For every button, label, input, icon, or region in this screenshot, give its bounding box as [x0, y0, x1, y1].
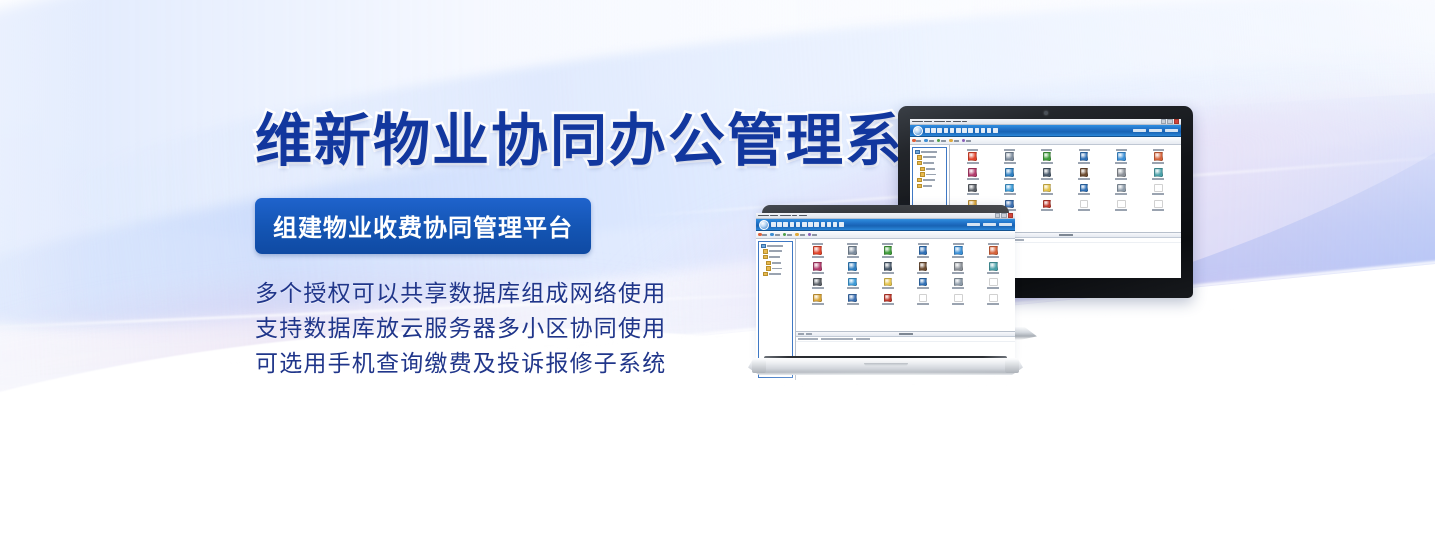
module-label-top: [918, 243, 929, 245]
module-icon-11-glyph: [954, 262, 963, 271]
menu-item[interactable]: [981, 128, 986, 133]
module-icon-7[interactable]: [954, 167, 991, 181]
module-icon-10[interactable]: [906, 261, 941, 275]
module-label: [812, 303, 824, 305]
toolbar-button[interactable]: [783, 233, 792, 237]
app-header-actions[interactable]: [967, 223, 1012, 226]
module-icon-15-glyph: [884, 278, 893, 287]
module-icon-3[interactable]: [1028, 148, 1065, 165]
module-label-top: [1041, 149, 1052, 151]
module-icon-5-glyph: [1117, 152, 1126, 161]
tree-item[interactable]: [761, 249, 791, 253]
module-label: [1152, 193, 1164, 195]
tree-item[interactable]: [761, 255, 791, 259]
module-icon-13[interactable]: [954, 182, 991, 196]
menu-item[interactable]: [777, 222, 782, 227]
menu-item[interactable]: [771, 222, 776, 227]
module-icon-24-glyph: [989, 294, 998, 303]
module-icon-2[interactable]: [835, 242, 870, 259]
module-icon-22-glyph: [919, 294, 928, 303]
tree-item[interactable]: [761, 244, 791, 248]
menu-item[interactable]: [790, 222, 795, 227]
module-icon-15[interactable]: [870, 276, 905, 290]
module-label: [882, 256, 894, 258]
module-label: [987, 287, 999, 289]
module-icon-15-glyph: [1043, 184, 1052, 193]
module-icon-10[interactable]: [1066, 167, 1103, 181]
module-label: [812, 287, 824, 289]
module-icon-24-glyph: [1154, 200, 1163, 209]
module-icon-18-glyph: [1154, 184, 1163, 193]
menu-item[interactable]: [975, 128, 980, 133]
module-label-top: [882, 243, 893, 245]
module-icon-2-glyph: [1005, 152, 1014, 161]
menu-item[interactable]: [808, 222, 813, 227]
app-title-text: [912, 121, 967, 123]
module-icon-17[interactable]: [941, 276, 976, 290]
toolbar-button[interactable]: [770, 233, 779, 237]
close-icon[interactable]: [1174, 119, 1179, 124]
module-icon-10-glyph: [1080, 168, 1089, 177]
module-icon-23[interactable]: [941, 292, 976, 306]
app-logo-icon: [913, 126, 923, 136]
tree-item[interactable]: [915, 184, 945, 188]
module-label-top: [967, 149, 978, 151]
header-action[interactable]: [967, 223, 980, 226]
module-label: [987, 303, 999, 305]
module-icon-13-glyph: [813, 278, 822, 287]
module-icon-4[interactable]: [1066, 148, 1103, 165]
device-mockup-group: [740, 100, 1210, 420]
menu-item[interactable]: [814, 222, 819, 227]
module-icon-1-glyph: [968, 152, 977, 161]
toolbar-button[interactable]: [758, 233, 767, 237]
module-icon-1[interactable]: [954, 148, 991, 165]
module-icon-4[interactable]: [906, 242, 941, 259]
module-label: [812, 272, 824, 274]
module-icon-4-glyph: [1080, 152, 1089, 161]
module-icon-23[interactable]: [1103, 198, 1140, 212]
module-label: [967, 162, 979, 164]
laptop-foot-right: [1005, 360, 1019, 373]
app-logo-icon: [759, 220, 769, 230]
module-icon-18-glyph: [989, 278, 998, 287]
module-label-top: [953, 243, 964, 245]
laptop-screen: [756, 213, 1015, 380]
module-icon-20-glyph: [848, 294, 857, 303]
toolbar-button[interactable]: [808, 233, 817, 237]
module-label: [882, 303, 894, 305]
module-label: [1115, 178, 1127, 180]
module-icon-3[interactable]: [870, 242, 905, 259]
module-icon-2[interactable]: [991, 148, 1028, 165]
webcam-icon: [1044, 111, 1048, 115]
module-label: [1041, 162, 1053, 164]
module-icon-9-glyph: [884, 262, 893, 271]
menu-item[interactable]: [839, 222, 844, 227]
app-title-text: [758, 215, 807, 217]
module-icon-24[interactable]: [976, 292, 1011, 306]
toolbar-button[interactable]: [924, 139, 933, 143]
module-label: [952, 287, 964, 289]
module-icon-3-glyph: [884, 246, 893, 255]
tree-item[interactable]: [761, 272, 791, 276]
module-label: [917, 287, 929, 289]
tree-item[interactable]: [915, 150, 945, 154]
module-icon-6[interactable]: [976, 242, 1011, 259]
module-icon-1[interactable]: [800, 242, 835, 259]
laptop-computer: [748, 205, 1023, 390]
menu-item[interactable]: [962, 128, 967, 133]
module-icon-8[interactable]: [835, 261, 870, 275]
app-menu-bar[interactable]: [771, 222, 844, 227]
minimize-button[interactable]: [995, 213, 1000, 218]
module-label-top: [1004, 149, 1015, 151]
minimize-button[interactable]: [1161, 119, 1166, 124]
header-action[interactable]: [999, 223, 1012, 226]
list-header-row: [796, 332, 1015, 337]
module-icon-21[interactable]: [870, 292, 905, 306]
menu-item[interactable]: [968, 128, 973, 133]
module-icon-22[interactable]: [906, 292, 941, 306]
module-label: [847, 287, 859, 289]
module-icon-8[interactable]: [991, 167, 1028, 181]
module-icon-13-glyph: [968, 184, 977, 193]
module-icon-1-glyph: [813, 246, 822, 255]
module-label: [1115, 209, 1127, 211]
laptop-reflection: [758, 375, 1013, 389]
tree-item[interactable]: [915, 178, 945, 182]
module-icon-9[interactable]: [1028, 167, 1065, 181]
app-toolbar[interactable]: [910, 137, 1181, 145]
module-icon-14[interactable]: [991, 182, 1028, 196]
menu-item[interactable]: [783, 222, 788, 227]
module-icon-5[interactable]: [1103, 148, 1140, 165]
module-icon-14-glyph: [848, 278, 857, 287]
module-label: [882, 287, 894, 289]
menu-item[interactable]: [987, 128, 992, 133]
trackpad-notch: [864, 363, 908, 366]
menu-item[interactable]: [956, 128, 961, 133]
module-label-top: [988, 243, 999, 245]
module-label: [1041, 193, 1053, 195]
maximize-button[interactable]: [1167, 119, 1172, 124]
module-icon-21[interactable]: [1028, 198, 1065, 212]
module-icon-16[interactable]: [906, 276, 941, 290]
module-icon-14-glyph: [1005, 184, 1014, 193]
module-icon-9-glyph: [1043, 168, 1052, 177]
module-label: [1115, 193, 1127, 195]
table-row[interactable]: [796, 337, 1015, 342]
module-icon-21-glyph: [1043, 200, 1052, 209]
tree-item[interactable]: [915, 161, 945, 165]
app-toolbar[interactable]: [756, 231, 1015, 239]
module-label: [1152, 162, 1164, 164]
menu-item[interactable]: [925, 128, 930, 133]
module-icon-16-glyph: [919, 278, 928, 287]
window-controls[interactable]: [995, 213, 1013, 218]
window-controls[interactable]: [1161, 119, 1179, 124]
module-icon-3-glyph: [1043, 152, 1052, 161]
module-label: [1152, 178, 1164, 180]
module-icon-16-glyph: [1080, 184, 1089, 193]
module-label: [1041, 209, 1053, 211]
tree-item[interactable]: [915, 167, 945, 171]
tree-item[interactable]: [761, 261, 791, 265]
module-label: [847, 256, 859, 258]
module-label-top: [847, 243, 858, 245]
module-icon-12[interactable]: [976, 261, 1011, 275]
module-label: [1004, 193, 1016, 195]
module-icon-18[interactable]: [1140, 182, 1177, 196]
module-label: [1078, 178, 1090, 180]
module-icon-23-glyph: [1117, 200, 1126, 209]
tree-item[interactable]: [761, 266, 791, 270]
module-icon-7[interactable]: [800, 261, 835, 275]
header-action[interactable]: [1133, 129, 1146, 132]
module-label: [987, 256, 999, 258]
toolbar-button[interactable]: [962, 139, 971, 143]
menu-item[interactable]: [950, 128, 955, 133]
module-icon-17-glyph: [954, 278, 963, 287]
laptop-foot-left: [752, 360, 766, 373]
module-label: [917, 272, 929, 274]
module-icon-10-glyph: [919, 262, 928, 271]
module-icon-12[interactable]: [1140, 167, 1177, 181]
module-label: [1041, 178, 1053, 180]
menu-item[interactable]: [931, 128, 936, 133]
module-label: [952, 256, 964, 258]
header-action[interactable]: [983, 223, 996, 226]
module-label-top: [812, 243, 823, 245]
module-label: [1078, 193, 1090, 195]
menu-item[interactable]: [827, 222, 832, 227]
menu-item[interactable]: [821, 222, 826, 227]
module-icon-24[interactable]: [1140, 198, 1177, 212]
module-icon-14[interactable]: [835, 276, 870, 290]
module-icon-11[interactable]: [941, 261, 976, 275]
module-icon-12-glyph: [1154, 168, 1163, 177]
module-icon-16[interactable]: [1066, 182, 1103, 196]
module-icon-6-glyph: [1154, 152, 1163, 161]
toolbar-button[interactable]: [949, 139, 958, 143]
header-action[interactable]: [1149, 129, 1162, 132]
module-icon-17[interactable]: [1103, 182, 1140, 196]
module-icon-12-glyph: [989, 262, 998, 271]
toolbar-button[interactable]: [912, 139, 921, 143]
module-icon-8-glyph: [848, 262, 857, 271]
module-icon-11-glyph: [1117, 168, 1126, 177]
module-icon-17-glyph: [1117, 184, 1126, 193]
module-icon-19[interactable]: [800, 292, 835, 306]
module-label: [952, 272, 964, 274]
module-label: [967, 193, 979, 195]
module-icon-18[interactable]: [976, 276, 1011, 290]
toolbar-button[interactable]: [937, 139, 946, 143]
menu-item[interactable]: [937, 128, 942, 133]
module-icon-23-glyph: [954, 294, 963, 303]
module-icon-6-glyph: [989, 246, 998, 255]
module-label: [1078, 209, 1090, 211]
module-label: [917, 256, 929, 258]
module-icon-4-glyph: [919, 246, 928, 255]
module-icon-21-glyph: [884, 294, 893, 303]
module-label: [1004, 162, 1016, 164]
module-label: [952, 303, 964, 305]
module-icon-22-glyph: [1080, 200, 1089, 209]
module-icon-2-glyph: [848, 246, 857, 255]
module-icon-7-glyph: [968, 168, 977, 177]
module-icon-13[interactable]: [800, 276, 835, 290]
module-icon-15[interactable]: [1028, 182, 1065, 196]
maximize-button[interactable]: [1001, 213, 1006, 218]
tree-item[interactable]: [915, 172, 945, 176]
header-action[interactable]: [1165, 129, 1178, 132]
app-header-actions[interactable]: [1133, 129, 1178, 132]
toolbar-button[interactable]: [795, 233, 804, 237]
module-icon-19-glyph: [813, 294, 822, 303]
module-label: [1152, 209, 1164, 211]
menu-item[interactable]: [944, 128, 949, 133]
module-label: [847, 272, 859, 274]
module-label-top: [1153, 149, 1164, 151]
module-label: [987, 272, 999, 274]
menu-item[interactable]: [802, 222, 807, 227]
module-icon-grid[interactable]: [796, 239, 1015, 331]
close-icon[interactable]: [1008, 213, 1013, 218]
laptop-base: [748, 358, 1023, 375]
tree-item[interactable]: [915, 155, 945, 159]
menu-item[interactable]: [833, 222, 838, 227]
module-label: [917, 303, 929, 305]
module-icon-5-glyph: [954, 246, 963, 255]
module-icon-22[interactable]: [1066, 198, 1103, 212]
module-icon-20[interactable]: [835, 292, 870, 306]
product-banner: 维新物业协同办公管理系统 组建物业收费协同管理平台 多个授权可以共享数据库组成网…: [0, 0, 1435, 538]
module-label: [882, 272, 894, 274]
module-label-top: [1116, 149, 1127, 151]
module-label: [812, 256, 824, 258]
app-header-bar: [910, 125, 1181, 137]
module-icon-11[interactable]: [1103, 167, 1140, 181]
module-label: [847, 303, 859, 305]
module-icon-5[interactable]: [941, 242, 976, 259]
module-label-top: [1079, 149, 1090, 151]
app-menu-bar[interactable]: [925, 128, 998, 133]
module-icon-9[interactable]: [870, 261, 905, 275]
module-label: [1004, 178, 1016, 180]
module-icon-8-glyph: [1005, 168, 1014, 177]
module-label: [1115, 162, 1127, 164]
module-icon-7-glyph: [813, 262, 822, 271]
module-label: [1078, 162, 1090, 164]
module-label: [967, 178, 979, 180]
menu-item[interactable]: [993, 128, 998, 133]
menu-item[interactable]: [796, 222, 801, 227]
app-header-bar: [756, 219, 1015, 231]
tagline-badge: 组建物业收费协同管理平台: [255, 198, 591, 254]
app-window-laptop: [756, 213, 1015, 380]
module-icon-6[interactable]: [1140, 148, 1177, 165]
